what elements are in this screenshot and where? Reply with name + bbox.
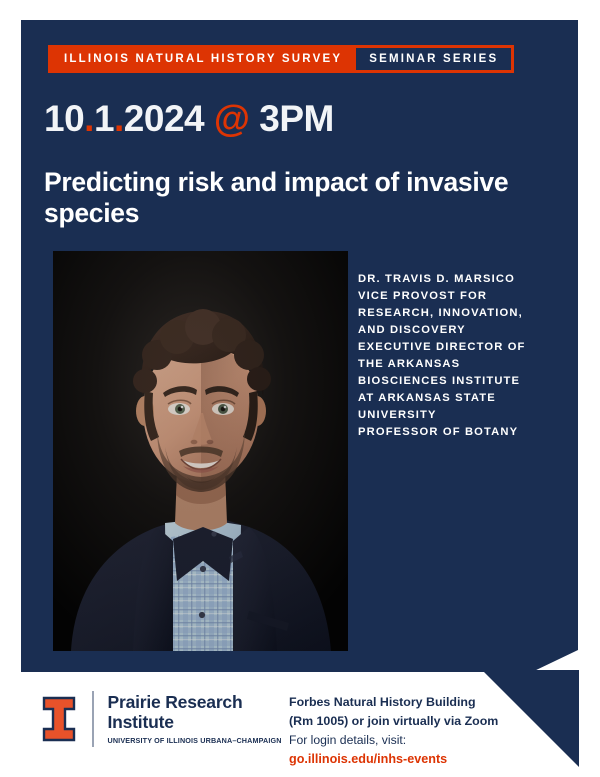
- event-date-time: 10.1.2024 @ 3PM: [44, 98, 334, 140]
- banner-seminar-badge: SEMINAR SERIES: [356, 48, 511, 70]
- date-separator-2: .: [114, 98, 124, 139]
- illinois-block-i-icon: [42, 696, 76, 742]
- speaker-portrait-photo: [53, 251, 348, 651]
- location-line-1: Forbes Natural History Building: [289, 693, 549, 712]
- event-location-info: Forbes Natural History Building (Rm 1005…: [289, 693, 549, 770]
- poster-footer: Prairie Research Institute UNIVERSITY OF…: [0, 683, 600, 777]
- date-year: 2024: [124, 98, 204, 139]
- speaker-title-line-1: VICE PROVOST FOR: [358, 288, 573, 305]
- speaker-title-line-8: UNIVERSITY: [358, 407, 573, 424]
- speaker-name: DR. TRAVIS D. MARSICO: [358, 271, 573, 288]
- date-day: 1: [94, 98, 114, 139]
- speaker-title-line-4: EXECUTIVE DIRECTOR OF: [358, 339, 573, 356]
- events-url-link[interactable]: go.illinois.edu/inhs-events: [289, 750, 549, 770]
- banner-seminar-label: SEMINAR SERIES: [369, 53, 498, 65]
- panel-corner-notch: [532, 650, 578, 672]
- banner-survey-title: ILLINOIS NATURAL HISTORY SURVEY: [48, 45, 356, 73]
- speaker-title-line-7: AT ARKANSAS STATE: [358, 390, 573, 407]
- login-details-label: For login details, visit:: [289, 731, 549, 750]
- event-time: 3PM: [259, 98, 334, 139]
- at-symbol-icon: @: [214, 98, 250, 139]
- seminar-poster: ILLINOIS NATURAL HISTORY SURVEY SEMINAR …: [0, 0, 600, 777]
- university-tagline: UNIVERSITY OF ILLINOIS URBANA–CHAMPAIGN: [108, 736, 282, 745]
- prairie-research-institute-logo: Prairie Research Institute UNIVERSITY OF…: [42, 691, 282, 747]
- series-banner: ILLINOIS NATURAL HISTORY SURVEY SEMINAR …: [48, 45, 514, 73]
- speaker-title-line-2: RESEARCH, INNOVATION,: [358, 305, 573, 322]
- logo-text-group: Prairie Research Institute UNIVERSITY OF…: [108, 693, 282, 746]
- date-month: 10: [44, 98, 84, 139]
- speaker-title-line-9: PROFESSOR OF BOTANY: [358, 424, 573, 441]
- talk-title: Predicting risk and impact of invasive s…: [44, 167, 514, 230]
- speaker-title-line-3: AND DISCOVERY: [358, 322, 573, 339]
- speaker-bio-block: DR. TRAVIS D. MARSICO VICE PROVOST FOR R…: [358, 271, 573, 441]
- speaker-title-line-5: THE ARKANSAS: [358, 356, 573, 373]
- location-line-2: (Rm 1005) or join virtually via Zoom: [289, 712, 549, 731]
- speaker-title-line-6: BIOSCIENCES INSTITUTE: [358, 373, 573, 390]
- date-separator-1: .: [84, 98, 94, 139]
- logo-divider: [92, 691, 94, 747]
- organization-name: Prairie Research Institute: [108, 693, 282, 733]
